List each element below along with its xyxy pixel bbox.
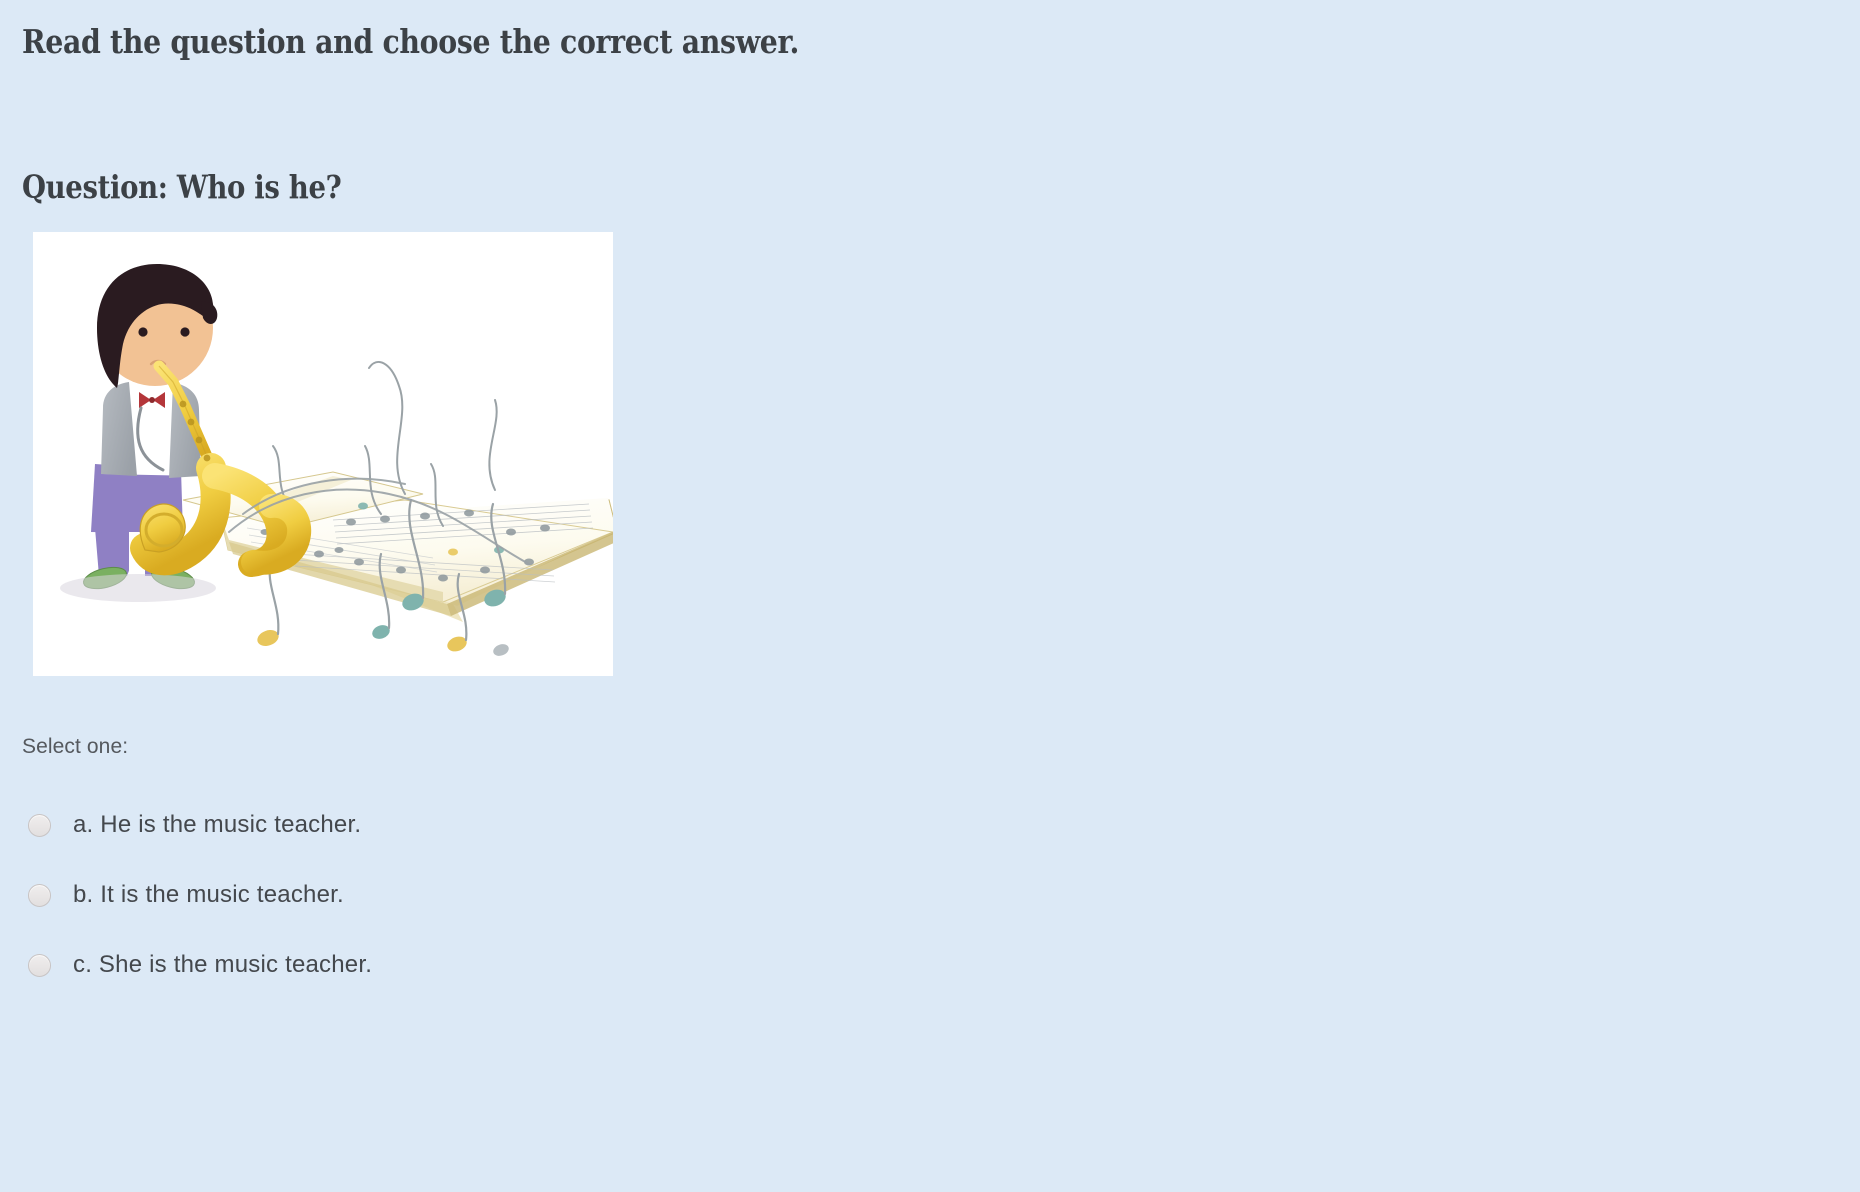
option-label-a[interactable]: a. He is the music teacher.	[73, 811, 361, 839]
option-row-c[interactable]: c. She is the music teacher.	[28, 930, 728, 1000]
option-label-b[interactable]: b. It is the music teacher.	[73, 881, 344, 909]
option-row-a[interactable]: a. He is the music teacher.	[28, 790, 728, 860]
question-text: Question: Who is he?	[22, 168, 341, 206]
question-image-frame	[33, 232, 613, 676]
option-row-b[interactable]: b. It is the music teacher.	[28, 860, 728, 930]
quiz-page: Read the question and choose the correct…	[0, 0, 1860, 1192]
select-one-label: Select one:	[22, 735, 128, 759]
saxophone-illustration	[33, 232, 613, 676]
radio-button-c[interactable]	[28, 954, 51, 977]
radio-button-a[interactable]	[28, 814, 51, 837]
radio-button-b[interactable]	[28, 884, 51, 907]
answer-options-list: a. He is the music teacher. b. It is the…	[28, 790, 728, 1000]
option-label-c[interactable]: c. She is the music teacher.	[73, 951, 372, 979]
page-title: Read the question and choose the correct…	[22, 22, 799, 61]
